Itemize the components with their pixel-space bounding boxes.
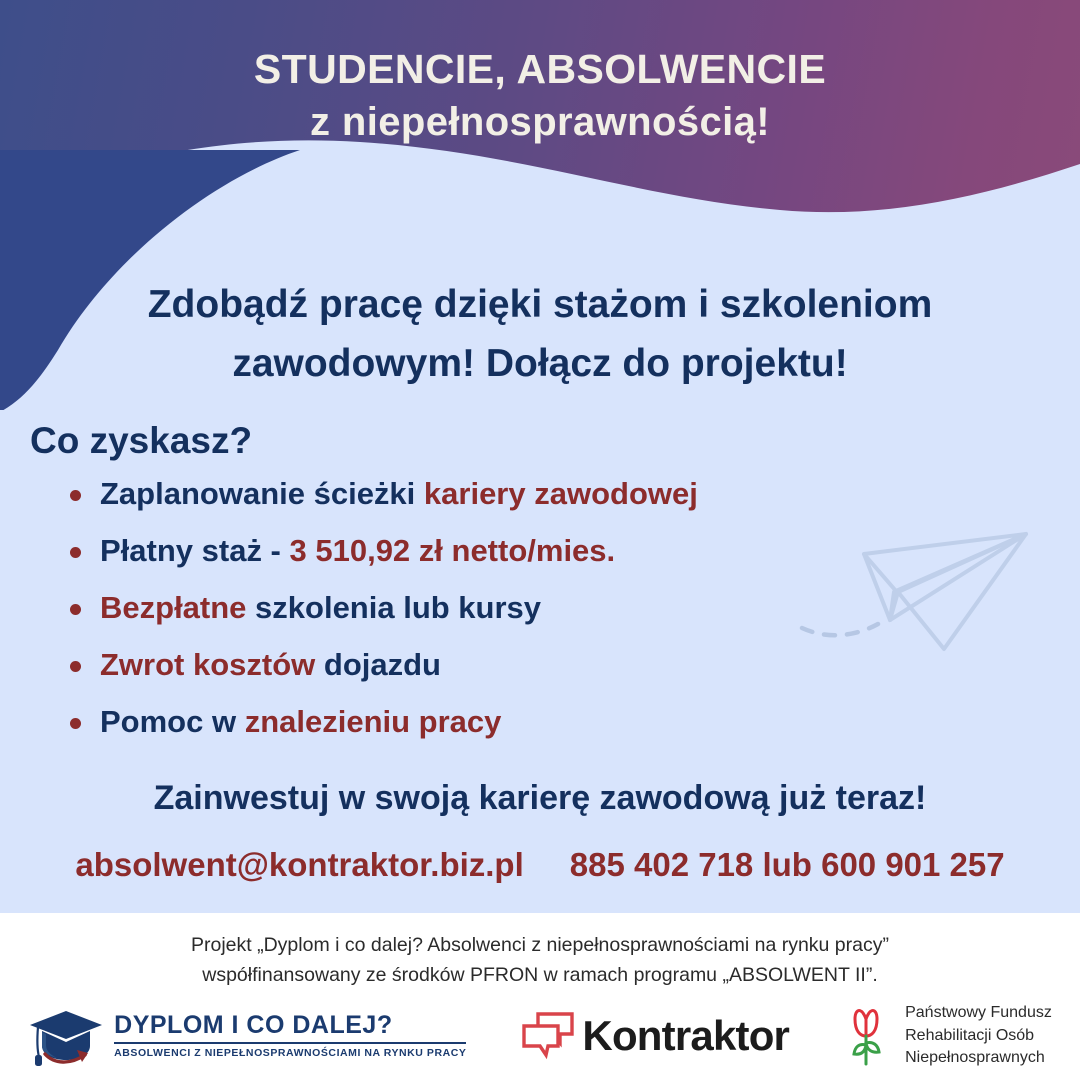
headline-line-1: Zdobądź pracę dzięki stażom i szkoleniom [0,275,1080,334]
poster: STUDENCIE, ABSOLWENCIE z niepełnosprawno… [0,0,1080,1080]
footer: Projekt „Dyplom i co dalej? Absolwenci z… [0,913,1080,1080]
contact-row: absolwent@kontraktor.biz.pl 885 402 718 … [0,846,1080,884]
dyplom-subtitle: ABSOLWENCI Z NIEPEŁNOSPRAWNOŚCIAMI NA RY… [114,1048,466,1059]
kontraktor-wordmark: Kontraktor [582,1015,789,1057]
benefits-heading: Co zyskasz? [0,420,1080,462]
benefit-text-highlight: kariery zawodowej [424,476,698,511]
footer-line-2: współfinansowany ze środków PFRON w rama… [0,960,1080,990]
footer-line-1: Projekt „Dyplom i co dalej? Absolwenci z… [0,930,1080,960]
benefit-text-plain-before: Płatny staż - [100,533,290,568]
logo-dyplom: DYPLOM I CO DALEJ? ABSOLWENCI Z NIEPEŁNO… [28,1005,466,1067]
benefit-item-3: Bezpłatne szkolenia lub kursy [66,592,1080,623]
benefit-text-plain-before: Zaplanowanie ścieżki [100,476,424,511]
benefit-item-5: Pomoc w znalezieniu pracy [66,706,1080,737]
dyplom-title: DYPLOM I CO DALEJ? [114,1013,466,1038]
logo-row: DYPLOM I CO DALEJ? ABSOLWENCI Z NIEPEŁNO… [0,1002,1080,1068]
benefit-text-plain-after: szkolenia lub kursy [246,590,541,625]
main-content: Zdobądź pracę dzięki stażom i szkoleniom… [0,275,1080,884]
benefit-item-4: Zwrot kosztów dojazdu [66,649,1080,680]
call-to-action: Zainwestuj w swoją karierę zawodową już … [0,779,1080,818]
pfron-text-block: Państwowy Fundusz Rehabilitacji Osób Nie… [905,1002,1052,1068]
header-title-block: STUDENCIE, ABSOLWENCIE z niepełnosprawno… [0,0,1080,300]
dyplom-text-block: DYPLOM I CO DALEJ? ABSOLWENCI Z NIEPEŁNO… [114,1013,466,1058]
logo-pfron: Państwowy Fundusz Rehabilitacji Osób Nie… [843,1002,1052,1068]
footer-description: Projekt „Dyplom i co dalej? Absolwenci z… [0,913,1080,990]
pfron-line-2: Rehabilitacji Osób [905,1025,1052,1047]
pfron-line-3: Niepełnosprawnych [905,1047,1052,1069]
title-line-1: STUDENCIE, ABSOLWENCIE [254,42,826,96]
graduation-cap-icon [28,1005,106,1067]
benefit-text-highlight: znalezieniu pracy [245,704,502,739]
speech-bubbles-icon [520,1010,576,1062]
benefits-list: Zaplanowanie ścieżki kariery zawodowej P… [0,478,1080,737]
headline-line-2: zawodowym! Dołącz do projektu! [0,334,1080,393]
benefit-text-plain-before: Pomoc w [100,704,245,739]
dyplom-divider [114,1042,466,1044]
benefit-item-2: Płatny staż - 3 510,92 zł netto/mies. [66,535,1080,566]
benefit-text-highlight: 3 510,92 zł netto/mies. [290,533,616,568]
tulip-icon [843,1005,895,1067]
logo-kontraktor: Kontraktor [520,1010,789,1062]
benefit-text-highlight: Bezpłatne [100,590,246,625]
benefit-item-1: Zaplanowanie ścieżki kariery zawodowej [66,478,1080,509]
benefit-text-plain-after: dojazdu [315,647,441,682]
contact-email[interactable]: absolwent@kontraktor.biz.pl [75,846,523,884]
benefit-text-highlight: Zwrot kosztów [100,647,315,682]
contact-phones[interactable]: 885 402 718 lub 600 901 257 [570,846,1005,884]
title-line-2: z niepełnosprawnością! [310,96,770,149]
pfron-line-1: Państwowy Fundusz [905,1002,1052,1024]
